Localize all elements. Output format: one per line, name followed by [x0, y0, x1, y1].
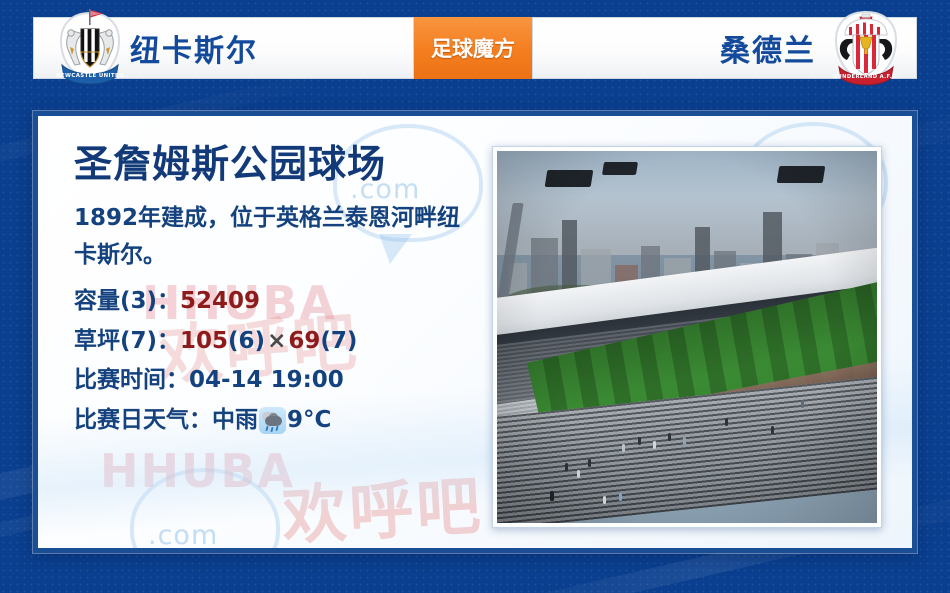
capacity-value: 52409 — [180, 282, 260, 322]
pitch-width-rank: (7) — [320, 322, 357, 362]
match-time-value: 04-14 19:00 — [189, 361, 344, 401]
site-logo-text: 足球魔方 — [431, 33, 515, 63]
pitch-length-rank: (6) — [228, 322, 265, 362]
stadium-info-text: 圣詹姆斯公园球场 1892年建成，位于英格兰泰恩河畔纽卡斯尔。 容量(3)：52… — [74, 144, 504, 440]
svg-text:NEWCASTLE UNITED: NEWCASTLE UNITED — [56, 73, 124, 79]
watermark-dotcom-text: .com — [148, 520, 218, 551]
pitch-row: 草坪(7)：105(6)×69(7) — [74, 322, 504, 362]
stadium-photo: NEWCASTLE UNITED — [497, 151, 877, 523]
stadium-description: 1892年建成，位于英格兰泰恩河畔纽卡斯尔。 — [74, 200, 466, 275]
watermark-brand-latin: HHUBA — [100, 444, 295, 498]
photo-vignette — [497, 151, 877, 523]
away-team-name: 桑德兰 — [720, 26, 816, 70]
watermark-brand-cn: 欢呼吧 — [280, 455, 486, 553]
match-time-row: 比赛时间：04-14 19:00 — [74, 361, 504, 401]
site-logo[interactable]: 足球魔方 — [414, 17, 532, 79]
multiply-symbol: × — [265, 322, 288, 362]
weather-condition: 中雨 — [212, 401, 258, 441]
pitch-length-value: 105 — [180, 322, 228, 362]
stadium-info-panel: .com .com .com HHUBA HHUBA 欢呼吧 欢呼吧 圣詹姆斯公… — [33, 111, 917, 553]
match-header: 纽卡斯尔 足球魔方 桑德兰 — [33, 17, 917, 79]
moderate-rain-icon — [259, 407, 286, 434]
capacity-label: 容量(3)： — [74, 282, 180, 322]
weather-temperature: 9°C — [287, 401, 331, 441]
match-time-label: 比赛时间： — [74, 361, 189, 401]
sunderland-crest: SUNDERLAND A.F.C. — [829, 7, 903, 87]
watermark-bubble-icon — [130, 468, 280, 553]
app-background: 纽卡斯尔 足球魔方 桑德兰 NEWCASTLE UNITED — [0, 0, 950, 593]
weather-row: 比赛日天气：中雨 9°C — [74, 401, 504, 441]
stadium-photo-frame[interactable]: NEWCASTLE UNITED — [492, 146, 882, 528]
newcastle-united-crest: NEWCASTLE UNITED — [53, 7, 127, 87]
capacity-row: 容量(3)：52409 — [74, 282, 504, 322]
svg-text:SUNDERLAND A.F.C.: SUNDERLAND A.F.C. — [833, 74, 898, 80]
pitch-width-value: 69 — [288, 322, 320, 362]
pitch-label: 草坪(7)： — [74, 322, 180, 362]
home-team-name: 纽卡斯尔 — [130, 26, 258, 70]
stadium-title: 圣詹姆斯公园球场 — [74, 144, 504, 186]
weather-label: 比赛日天气： — [74, 401, 212, 441]
